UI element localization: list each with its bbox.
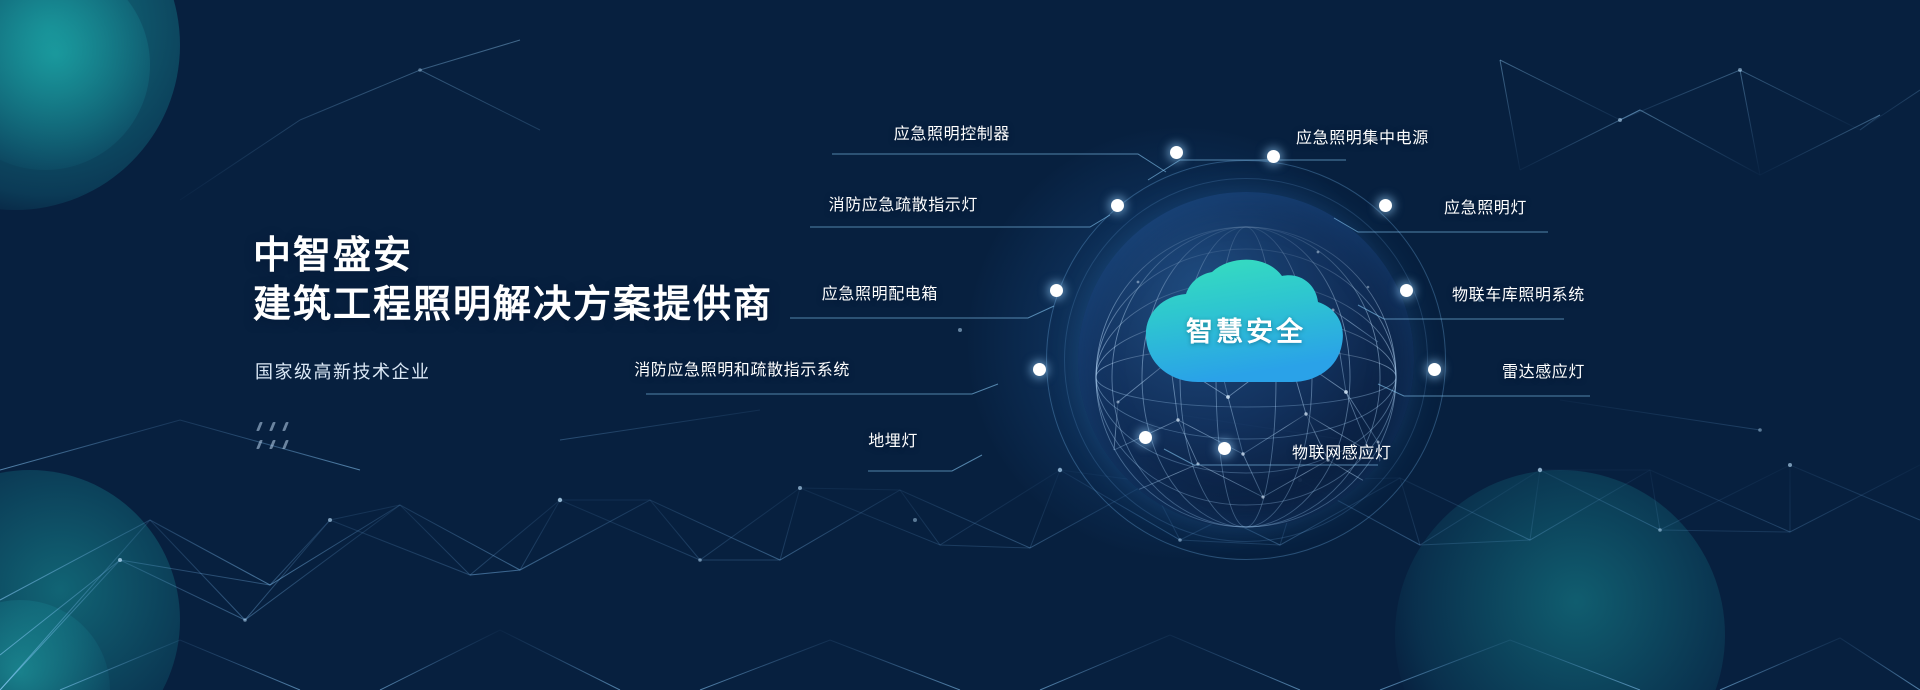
callout-label: 消防应急疏散指示灯 (829, 191, 978, 215)
headline-line-2: 建筑工程照明解决方案提供商 (253, 281, 773, 330)
callout-connector-line (1430, 380, 1610, 424)
callout-label: 应急照明灯 (1444, 194, 1527, 218)
page-subtitle: 国家级高新技术企业 (255, 358, 431, 384)
callout-connector-line (998, 213, 1178, 257)
callout-node-fire-emergency-evacuation-sign-lamp[interactable] (1111, 199, 1124, 212)
decorative-slashes (258, 422, 302, 462)
callout-label: 地埋灯 (868, 427, 918, 451)
callout-label: 物联网感应灯 (1292, 439, 1392, 463)
cloud-badge: 智慧安全 (1140, 258, 1352, 408)
callout-node-emergency-lighting-distribution-box[interactable] (1050, 284, 1063, 297)
callout-connector-line (1390, 303, 1580, 347)
callout-label: 应急照明集中电源 (1296, 124, 1429, 148)
callout-connector-line (1176, 146, 1356, 196)
callout-node-inground-light[interactable] (1139, 431, 1152, 444)
callout-label: 应急照明配电箱 (822, 280, 938, 304)
callout-node-fire-emergency-lighting-and-evacuation-system[interactable] (1033, 363, 1046, 376)
callout-connector-line (898, 378, 1098, 422)
page-title: 中智盛安 建筑工程照明解决方案提供商 (253, 232, 773, 330)
callout-node-iot-garage-lighting-system[interactable] (1400, 284, 1413, 297)
callout-node-emergency-lighting-central-power[interactable] (1267, 150, 1280, 163)
callout-label: 消防应急照明和疏散指示系统 (634, 356, 850, 380)
cloud-center-label: 智慧安全 (1140, 310, 1352, 349)
callout-node-radar-sensor-lamp[interactable] (1428, 363, 1441, 376)
callout-node-iot-sensor-lamp[interactable] (1218, 442, 1231, 455)
callout-connector-line (1220, 461, 1400, 505)
callout-connector-line (1370, 216, 1550, 260)
callout-label: 应急照明控制器 (894, 120, 1010, 144)
callout-label: 物联车库照明系统 (1452, 281, 1585, 305)
callout-node-emergency-lighting-lamp[interactable] (1379, 199, 1392, 212)
hero-banner: 智慧安全 中智盛安 建筑工程照明解决方案提供商 国家级高新技术企业 应急照明控制… (0, 0, 1920, 690)
callout-connector-line (1008, 449, 1208, 493)
headline-line-1: 中智盛安 (253, 235, 413, 277)
callout-connector-line (1020, 142, 1190, 192)
callout-connector-line (958, 302, 1138, 346)
callout-label: 雷达感应灯 (1502, 358, 1585, 382)
